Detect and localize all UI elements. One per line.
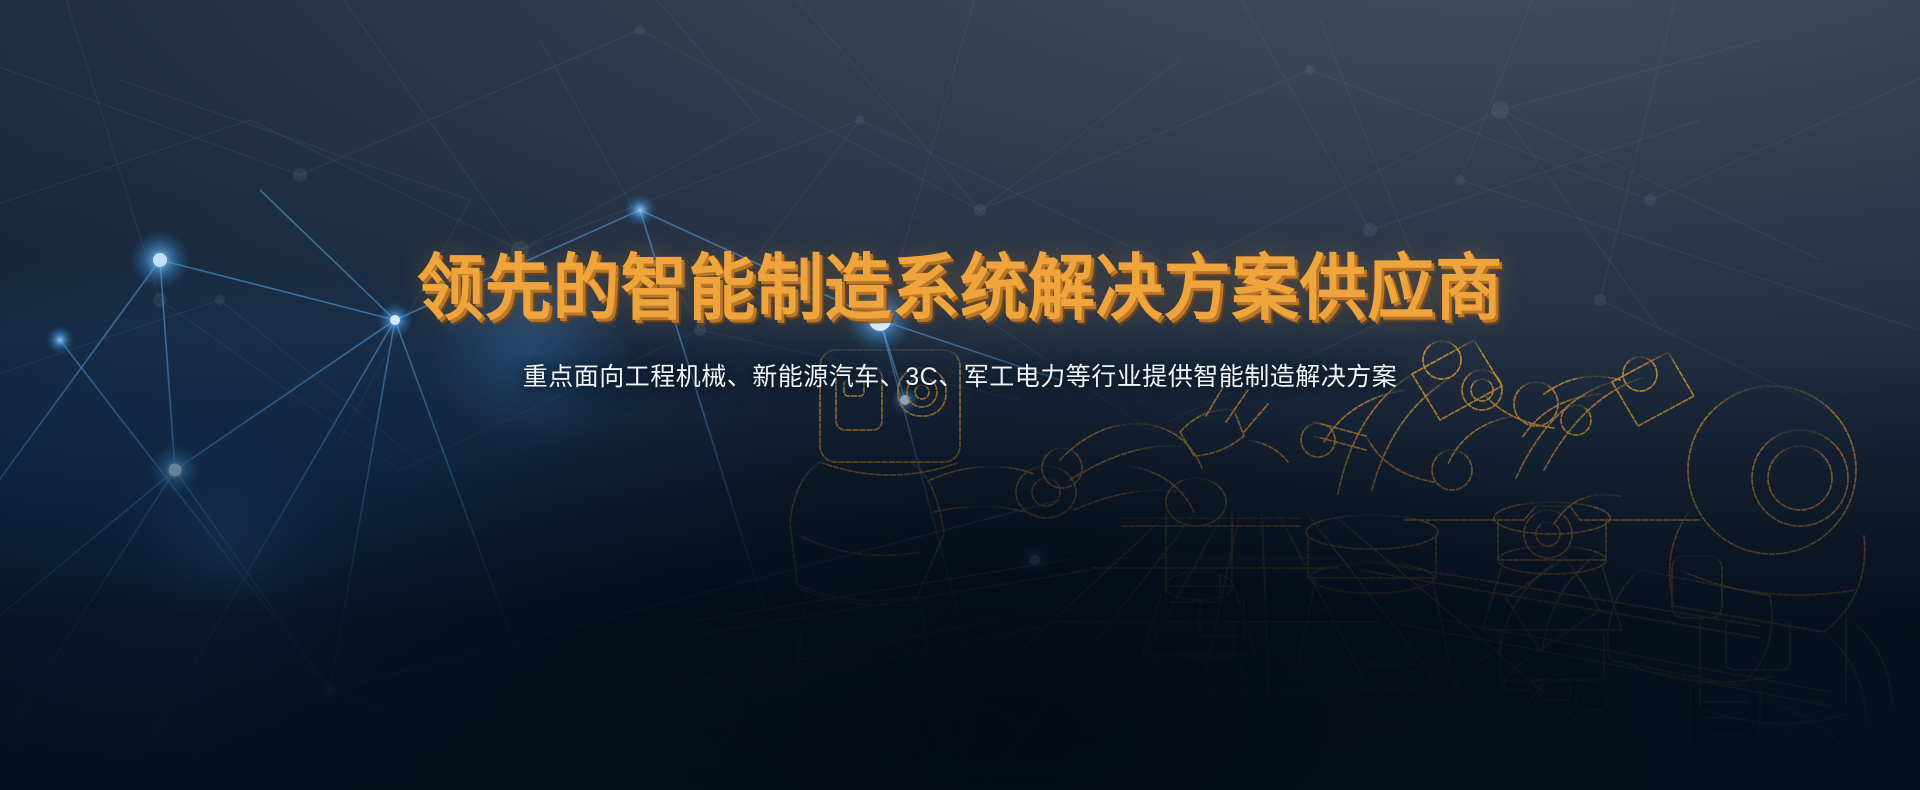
banner-headline: 领先的智能制造系统解决方案供应商: [67, 0, 1853, 324]
hero-banner: 领先的智能制造系统解决方案供应商 重点面向工程机械、新能源汽车、3C、军工电力等…: [0, 0, 1920, 790]
banner-copy: 领先的智能制造系统解决方案供应商 重点面向工程机械、新能源汽车、3C、军工电力等…: [0, 0, 1920, 392]
banner-subtitle: 重点面向工程机械、新能源汽车、3C、军工电力等行业提供智能制造解决方案: [0, 324, 1920, 392]
